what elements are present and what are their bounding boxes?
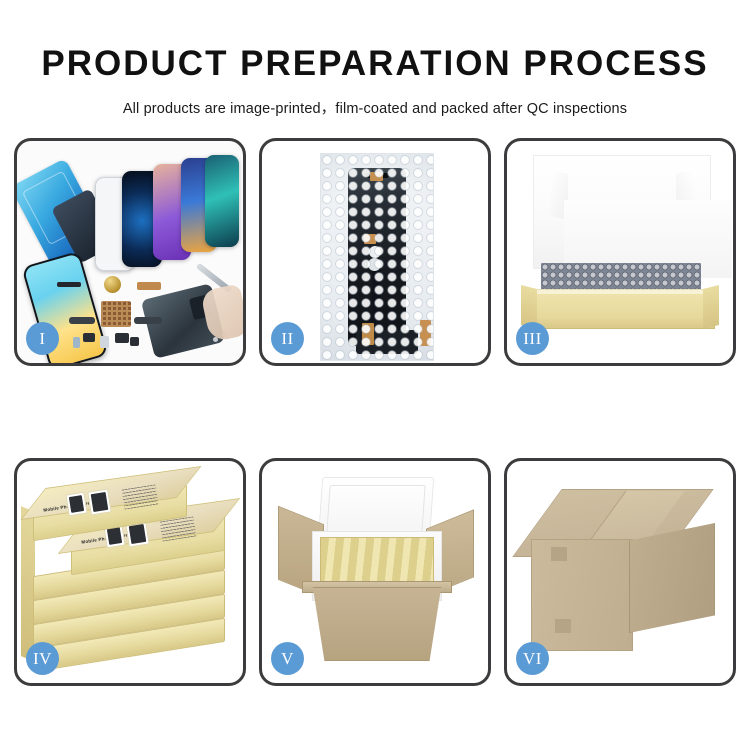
process-steps-grid: I II xyxy=(14,138,736,694)
step-panel-3: III xyxy=(504,138,736,366)
copper-connector-part xyxy=(137,282,161,290)
step-badge-6: VI xyxy=(516,642,549,675)
box-front-highlight xyxy=(531,289,713,294)
vibration-motor-part xyxy=(104,276,121,293)
small-part-4 xyxy=(130,337,139,346)
step-badge-4: IV xyxy=(26,642,59,675)
small-part-5 xyxy=(73,337,80,348)
small-part-2 xyxy=(100,336,109,348)
step-panel-5: V xyxy=(259,458,491,686)
step-badge-1: I xyxy=(26,322,59,355)
flex-cable-part-2 xyxy=(134,317,162,324)
small-part-3 xyxy=(115,333,129,343)
box-end-right xyxy=(703,285,719,329)
small-part-1 xyxy=(83,333,95,342)
carton-front-face xyxy=(531,539,633,651)
step-panel-2: II xyxy=(259,138,491,366)
step-panel-6: VI xyxy=(504,458,736,686)
step-panel-4: Mobile Phone Spare Parts Mobile Phone Sp… xyxy=(14,458,246,686)
carton-side-face xyxy=(629,523,715,633)
phone-fan-group xyxy=(95,155,235,273)
phone-screen-teal xyxy=(205,155,239,247)
step-badge-5: V xyxy=(271,642,304,675)
header: PRODUCT PREPARATION PROCESS All products… xyxy=(0,0,750,118)
flex-cable-part-1 xyxy=(69,317,95,324)
step-badge-2: II xyxy=(271,322,304,355)
box-window-back-2 xyxy=(87,489,111,516)
page-subtitle: All products are image-printed，film-coat… xyxy=(0,84,750,118)
yellow-box-body xyxy=(531,289,715,329)
carton-tape-2 xyxy=(555,619,571,633)
step-panel-1: I xyxy=(14,138,246,366)
bubble-texture xyxy=(321,154,433,360)
product-preparation-infographic: PRODUCT PREPARATION PROCESS All products… xyxy=(0,0,750,750)
speaker-part xyxy=(57,282,81,287)
chip-grid-part xyxy=(101,301,131,327)
box-window-back-1 xyxy=(65,492,87,517)
carton-body xyxy=(304,587,450,661)
bubble-wrap-bag xyxy=(320,153,434,361)
white-box-lid xyxy=(533,155,711,269)
carton-tape-1 xyxy=(551,547,567,561)
step-badge-3: III xyxy=(516,322,549,355)
page-title: PRODUCT PREPARATION PROCESS xyxy=(0,0,750,84)
